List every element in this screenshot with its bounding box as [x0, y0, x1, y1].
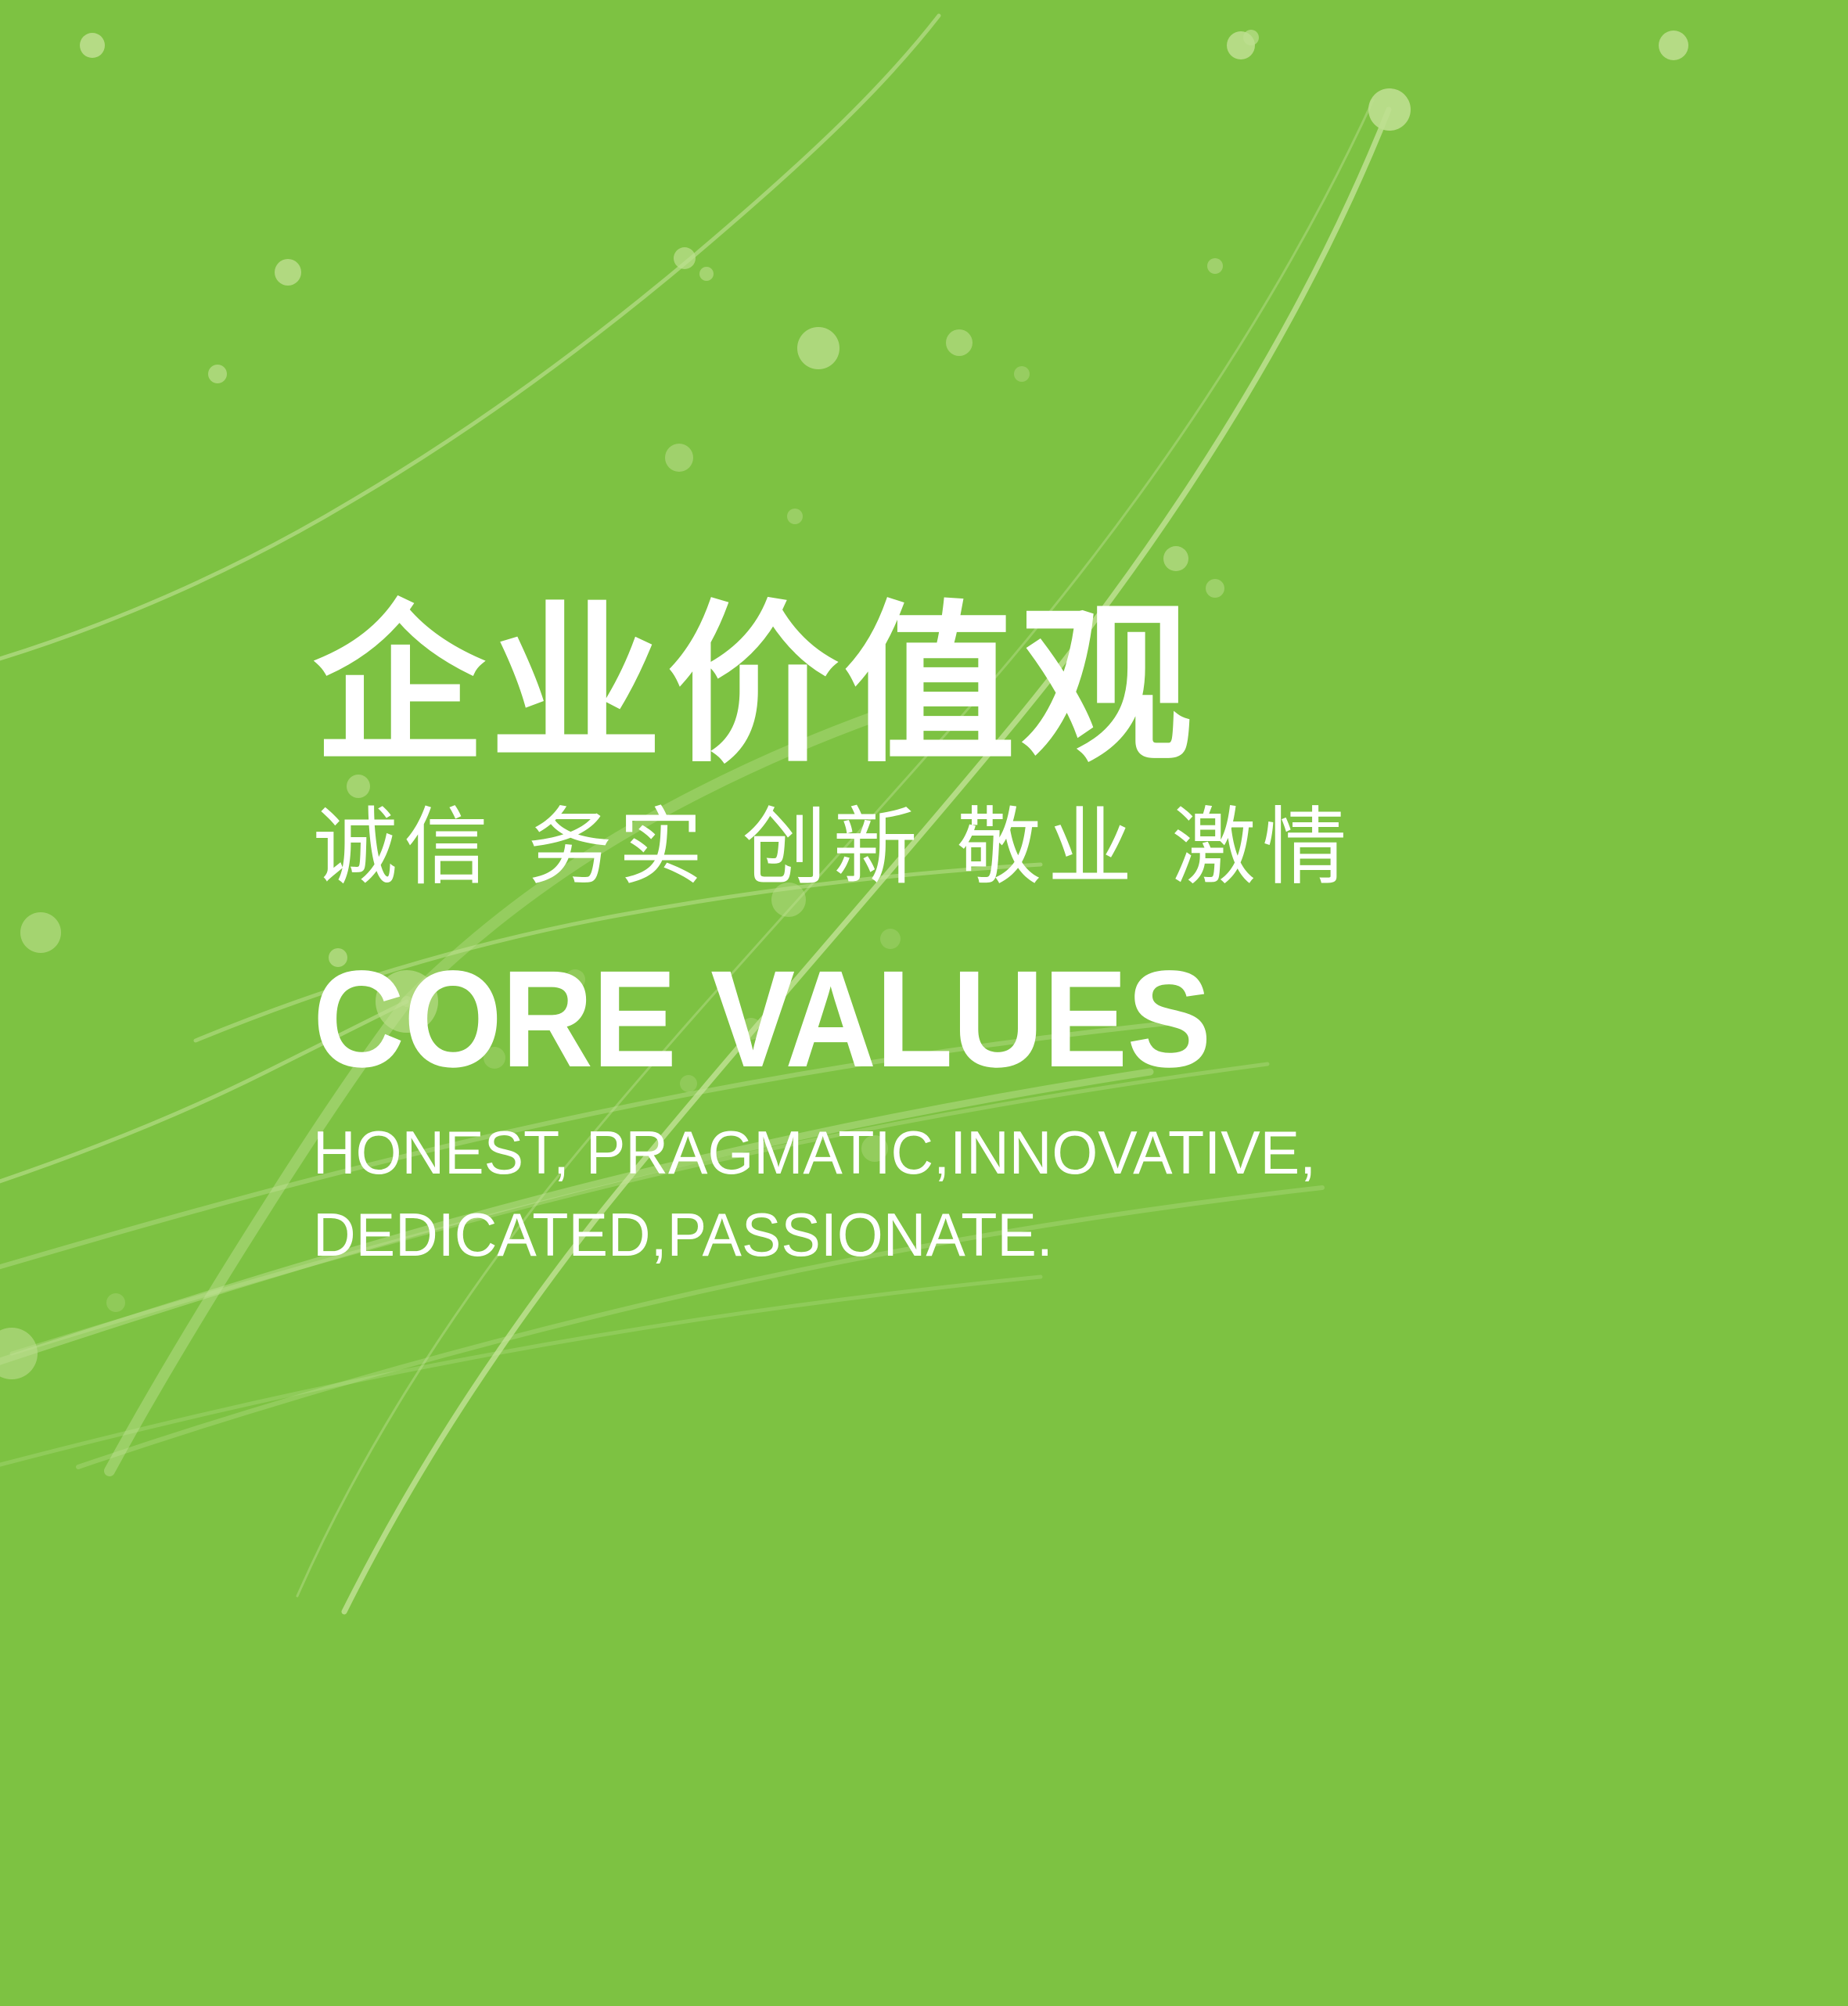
text-content-block: 企业价值观 诚信 务实 创新 敬业 激情 CORE VALUES HONEST,…	[313, 595, 1690, 1275]
english-body-line-2: DEDICATED,PASSIONATE.	[313, 1194, 1648, 1276]
node-dot	[699, 267, 714, 281]
node-dot	[1163, 546, 1188, 571]
node-dot	[674, 247, 696, 269]
node-dot	[275, 259, 301, 286]
english-title: CORE VALUES	[313, 951, 1580, 1088]
node-dot	[1014, 366, 1030, 382]
node-dot	[797, 327, 840, 369]
english-body-line-1: HONEST, PRAGMATIC,INNOVATIVE,	[313, 1112, 1648, 1194]
node-dot	[946, 329, 973, 356]
node-dot	[1227, 31, 1255, 59]
node-dot	[0, 1328, 38, 1379]
english-body: HONEST, PRAGMATIC,INNOVATIVE, DEDICATED,…	[313, 1112, 1648, 1275]
node-dot	[80, 33, 105, 58]
node-dot	[1207, 258, 1223, 274]
node-dot	[20, 912, 61, 953]
node-dot	[787, 509, 803, 524]
node-dot	[1243, 30, 1259, 45]
node-dot	[665, 444, 693, 472]
node-dot	[106, 1293, 125, 1312]
chinese-title: 企业价值观	[313, 595, 1690, 777]
core-values-poster: 企业价值观 诚信 务实 创新 敬业 激情 CORE VALUES HONEST,…	[0, 0, 1848, 2006]
node-dot	[208, 365, 227, 383]
chinese-subtitle: 诚信 务实 创新 敬业 激情	[313, 794, 1690, 902]
node-dot	[1368, 88, 1411, 131]
node-dot	[1659, 31, 1688, 60]
